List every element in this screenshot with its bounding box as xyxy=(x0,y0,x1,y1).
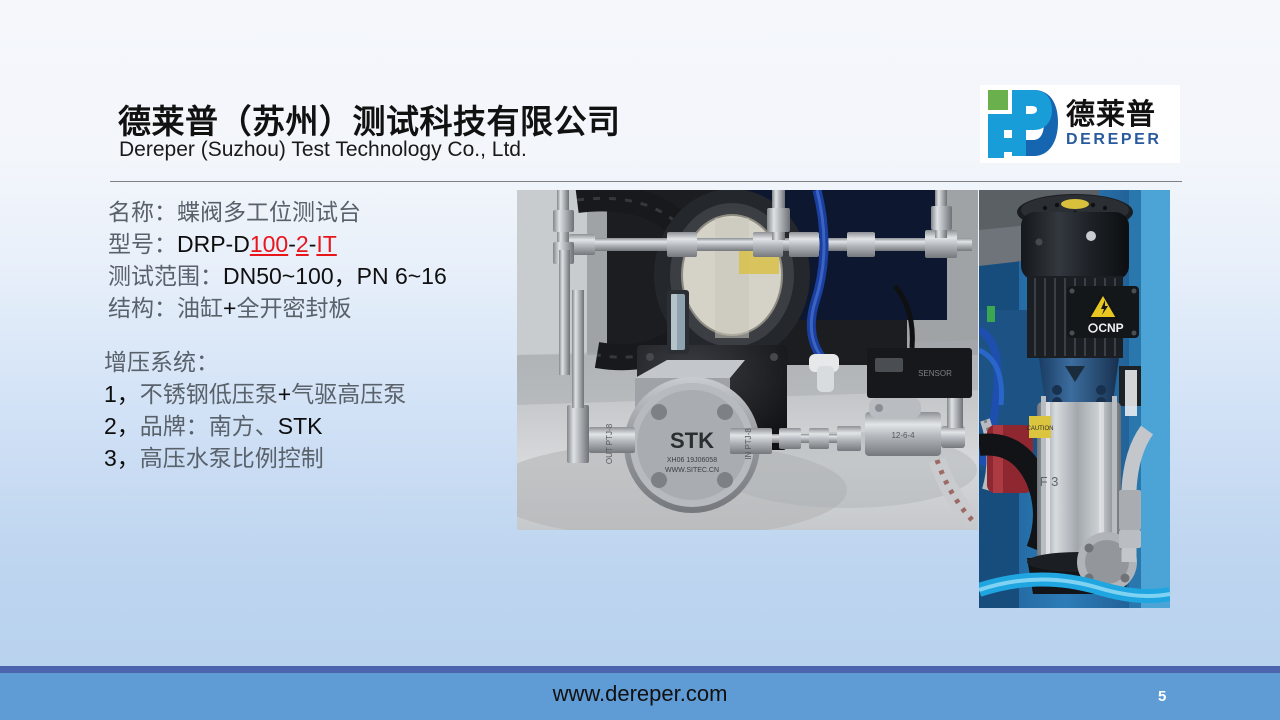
feature-item-2: 2，品牌：南方、STK xyxy=(104,411,504,443)
booster-system-block: 增压系统： 1，不锈钢低压泵+气驱高压泵 2，品牌：南方、STK 3，高压水泵比… xyxy=(104,348,504,475)
spec-line-model: 型号：DRP-D100-2-IT xyxy=(108,229,508,261)
svg-text:IN PTJ-8: IN PTJ-8 xyxy=(744,428,753,460)
feature-item-2-text: 品牌：南方、 xyxy=(140,414,278,440)
photo-cnp-pump: CNP CAUTION F 3 xyxy=(979,190,1170,608)
svg-text:XH06 19J06058: XH06 19J06058 xyxy=(667,457,717,464)
feature-title: 增压系统： xyxy=(104,348,504,379)
slide-header: 德莱普（苏州）测试科技有限公司 Dereper (Suzhou) Test Te… xyxy=(0,0,1280,182)
feature-item-1-text-a: 不锈钢低压泵 xyxy=(140,382,278,408)
footer-divider xyxy=(0,666,1280,673)
feature-item-3-number: 3， xyxy=(104,445,140,471)
feature-item-2-number: 2， xyxy=(104,413,140,439)
svg-text:STK: STK xyxy=(670,428,714,453)
spec-model-size: 100 xyxy=(250,231,288,257)
feature-item-3-text: 高压水泵比例控制 xyxy=(140,446,324,472)
svg-text:CNP: CNP xyxy=(1098,321,1123,335)
feature-item-1-plus: + xyxy=(278,381,291,407)
company-name-cn: 德莱普（苏州）测试科技有限公司 xyxy=(118,95,621,143)
svg-text:CAUTION: CAUTION xyxy=(1027,426,1054,432)
spec-line-range: 测试范围：DN50~100，PN 6~16 xyxy=(108,261,508,293)
header-divider xyxy=(110,181,1182,182)
logo-text-cn: 德莱普 xyxy=(1066,99,1162,129)
spec-line-name: 名称：蝶阀多工位测试台 xyxy=(108,198,508,229)
logo-text-en: DEREPER xyxy=(1066,131,1162,149)
spec-range-label: 测试范围： xyxy=(108,264,223,290)
spec-name-value: 蝶阀多工位测试台 xyxy=(177,200,361,226)
logo-wordmark: 德莱普 DEREPER xyxy=(1066,99,1162,148)
feature-item-1: 1，不锈钢低压泵+气驱高压泵 xyxy=(104,379,504,411)
spec-model-suffix: IT xyxy=(316,231,336,257)
spec-model-prefix: DRP-D xyxy=(177,231,250,257)
feature-item-2-brand: STK xyxy=(278,413,323,439)
svg-text:WWW.SITEC.CN: WWW.SITEC.CN xyxy=(665,467,719,474)
spec-structure-label: 结构： xyxy=(108,296,177,322)
feature-item-1-text-b: 气驱高压泵 xyxy=(291,382,406,408)
page-number: 5 xyxy=(1158,688,1198,705)
brand-logo: 德莱普 DEREPER xyxy=(980,85,1180,163)
svg-text:F 3: F 3 xyxy=(1040,474,1059,489)
spec-structure-value-a: 油缸 xyxy=(177,296,223,322)
spec-range-value: DN50~100，PN 6~16 xyxy=(223,263,447,289)
company-name-en: Dereper (Suzhou) Test Technology Co., Lt… xyxy=(119,138,527,162)
spec-structure-value-b: 全开密封板 xyxy=(236,296,351,322)
spec-name-label: 名称： xyxy=(108,200,177,226)
spec-model-stations: 2 xyxy=(296,231,309,257)
spec-model-sep-1: - xyxy=(288,231,296,257)
spec-model-label: 型号： xyxy=(108,232,177,258)
specification-block: 名称：蝶阀多工位测试台 型号：DRP-D100-2-IT 测试范围：DN50~1… xyxy=(108,198,508,325)
feature-item-1-number: 1， xyxy=(104,381,140,407)
svg-text:SENSOR: SENSOR xyxy=(918,369,952,378)
svg-text:12-6-4: 12-6-4 xyxy=(891,431,915,440)
footer-website-url[interactable]: www.dereper.com xyxy=(0,681,1280,707)
feature-item-3: 3，高压水泵比例控制 xyxy=(104,443,504,475)
dereper-logo-icon xyxy=(986,88,1060,160)
spec-line-structure: 结构：油缸+全开密封板 xyxy=(108,293,508,325)
photo-piping-closeup: STK XH06 19J06058 WWW.SITEC.CN OUT PTJ-8… xyxy=(517,190,978,530)
svg-text:OUT PTJ-8: OUT PTJ-8 xyxy=(605,423,614,464)
spec-structure-plus: + xyxy=(223,295,236,321)
